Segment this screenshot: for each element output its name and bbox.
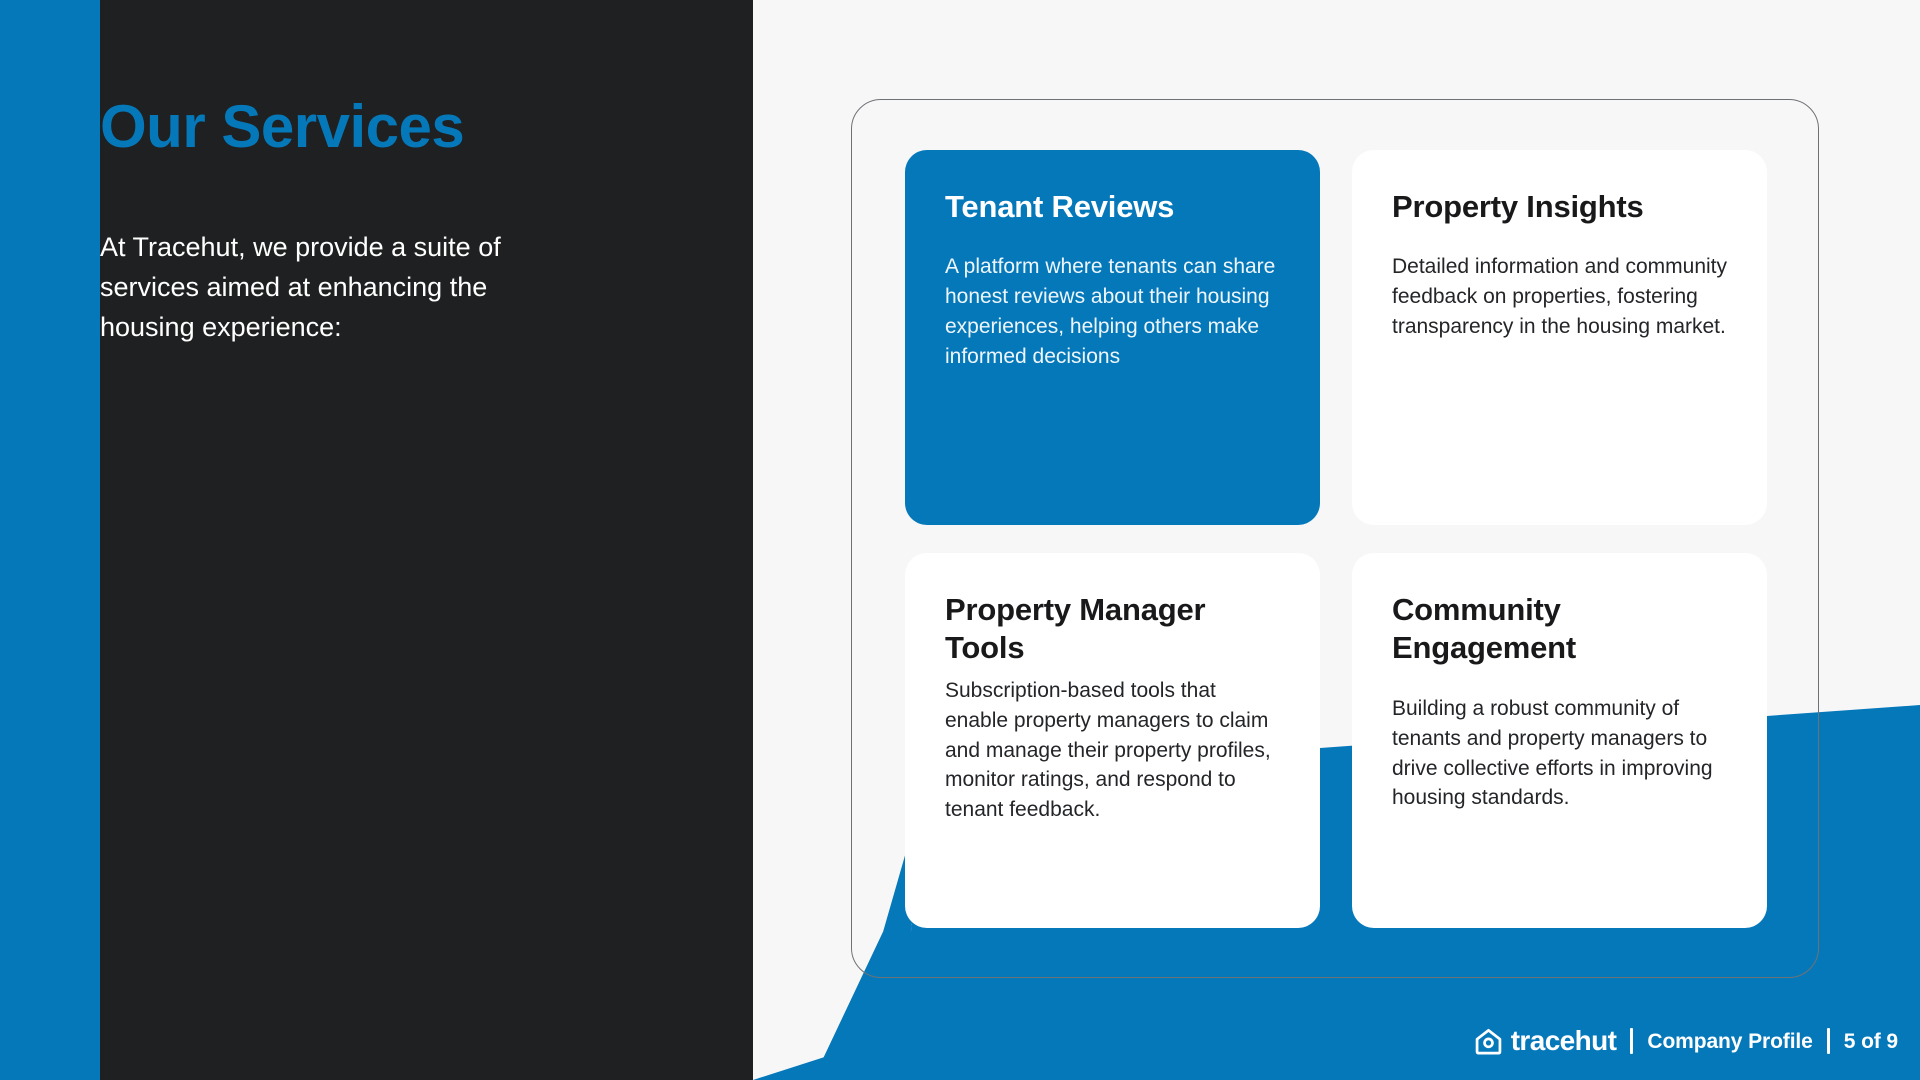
services-grid: Tenant Reviews A platform where tenants …: [905, 150, 1767, 928]
brand-name: tracehut: [1511, 1027, 1617, 1055]
service-card-tenant-reviews[interactable]: Tenant Reviews A platform where tenants …: [905, 150, 1320, 525]
slide-canvas: Our Services At Tracehut, we provide a s…: [0, 0, 1920, 1080]
left-panel-content: Our Services At Tracehut, we provide a s…: [100, 95, 570, 348]
page-title: Our Services: [100, 95, 570, 160]
service-card-title: Tenant Reviews: [945, 188, 1280, 226]
service-card-property-insights[interactable]: Property Insights Detailed information a…: [1352, 150, 1767, 525]
service-card-body: Building a robust community of tenants a…: [1392, 694, 1727, 813]
service-card-property-manager-tools[interactable]: Property Manager Tools Subscription-base…: [905, 553, 1320, 928]
footer-page-number: 5 of 9: [1844, 1031, 1898, 1052]
footer-divider-2: [1827, 1028, 1830, 1054]
service-card-body: Detailed information and community feedb…: [1392, 252, 1727, 341]
service-card-community-engagement[interactable]: Community Engagement Building a robust c…: [1352, 553, 1767, 928]
left-accent-stripe: [0, 0, 100, 1080]
page-subtitle: At Tracehut, we provide a suite of servi…: [100, 228, 570, 348]
service-card-body: A platform where tenants can share hones…: [945, 252, 1280, 371]
house-lens-icon: [1473, 1026, 1504, 1057]
service-card-body: Subscription-based tools that enable pro…: [945, 676, 1280, 825]
service-card-title: Community Engagement: [1392, 591, 1727, 668]
service-card-title: Property Manager Tools: [945, 591, 1280, 668]
footer-document-label: Company Profile: [1647, 1031, 1812, 1052]
service-card-title: Property Insights: [1392, 188, 1727, 226]
brand-logo: tracehut: [1473, 1026, 1617, 1057]
footer-divider-1: [1630, 1028, 1633, 1054]
footer: tracehut Company Profile 5 of 9: [1473, 1024, 1898, 1058]
